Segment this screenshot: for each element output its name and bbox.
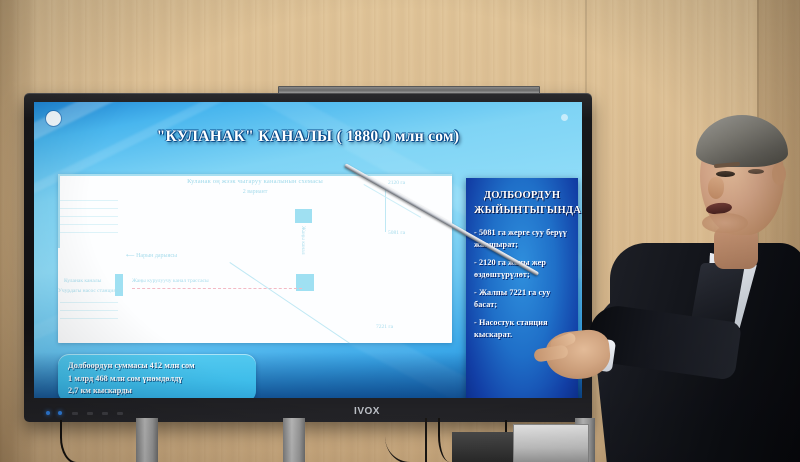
presenter-ear bbox=[772, 163, 786, 185]
diagram-label-area-5081: 5081 га bbox=[388, 230, 405, 236]
floor-object-dark bbox=[452, 432, 514, 462]
power-cable bbox=[60, 420, 88, 462]
diagram-river-line bbox=[58, 174, 452, 176]
diagram-label-vertical: Жаңы канал bbox=[300, 226, 306, 254]
monitor-brand-logo: IVOX bbox=[346, 405, 388, 418]
diagram-label-area-2120: 2120 га bbox=[388, 180, 405, 186]
presenter-eye bbox=[748, 169, 764, 174]
diagram-gridline bbox=[60, 302, 118, 303]
diagram-diagonal-line bbox=[229, 262, 352, 343]
diagram-gridline bbox=[60, 200, 118, 201]
power-cable bbox=[385, 418, 427, 462]
diagram-block bbox=[295, 209, 312, 223]
diagram-gridline bbox=[60, 224, 118, 225]
diagram-gridline bbox=[60, 318, 118, 319]
summary-callout-box: Долбоордун суммасы 412 млн сом 1 млрд 46… bbox=[58, 354, 256, 398]
diagram-arrow-label: ⟵ Нарын дарыясы bbox=[126, 252, 177, 259]
canal-schematic-diagram: Куланак оң жээк чыгаруу каналынын схемас… bbox=[58, 174, 452, 343]
diagram-label-area-7221: 7221 га bbox=[376, 324, 393, 330]
slide-title: "КУЛАНАК" КАНАЛЫ ( 1880,0 млн сом) bbox=[34, 128, 582, 146]
conclusion-title-line-1: ДОЛБООРДУН bbox=[474, 188, 570, 203]
monitor-power-led bbox=[46, 411, 62, 415]
monitor-stand-post bbox=[283, 418, 305, 462]
presenter bbox=[596, 95, 800, 462]
diagram-new-canal-dashed bbox=[132, 288, 302, 289]
diagram-label-pump: Учурдагы насос станциясы bbox=[58, 288, 122, 294]
diagram-gridline bbox=[60, 208, 118, 209]
diagram-label-canal: Куланак каналы bbox=[64, 278, 101, 284]
diagram-gridline bbox=[60, 232, 118, 233]
slide-corner-dot-right-icon bbox=[561, 114, 568, 121]
summary-line-2: 1 млрд 468 млн сом үнөмдөлдү bbox=[68, 373, 246, 386]
presenter-hair bbox=[696, 115, 788, 167]
presenter-chin bbox=[702, 213, 748, 233]
summary-line-3: 2,7 км кыскарды bbox=[68, 385, 246, 398]
conclusion-bullet: - 2120 га жаңы жер өздөштүрүлөт; bbox=[474, 257, 570, 280]
diagram-scale-tick bbox=[385, 188, 386, 232]
floor-object-white bbox=[513, 424, 589, 462]
monitor-stand-post bbox=[136, 418, 158, 462]
monitor-control-buttons[interactable] bbox=[72, 412, 123, 415]
diagram-gridline bbox=[60, 310, 118, 311]
diagram-canal-line bbox=[58, 176, 60, 248]
diagram-label-new-canal: Жаңы курулуучу канал трассасы bbox=[132, 278, 209, 284]
slide-corner-dot-icon bbox=[46, 111, 61, 126]
diagram-gridline bbox=[60, 216, 118, 217]
screenshot-scene: "КУЛАНАК" КАНАЛЫ ( 1880,0 млн сом) Кулан… bbox=[0, 0, 800, 462]
presenter-eye bbox=[716, 171, 735, 177]
conclusion-title-line-2: ЖЫЙЫНТЫГЫНДА bbox=[474, 203, 570, 218]
summary-line-1: Долбоордун суммасы 412 млн сом bbox=[68, 360, 246, 373]
presenter-nose bbox=[708, 177, 724, 199]
conclusion-bullet: - Жалпы 7221 га суу басат; bbox=[474, 287, 570, 310]
